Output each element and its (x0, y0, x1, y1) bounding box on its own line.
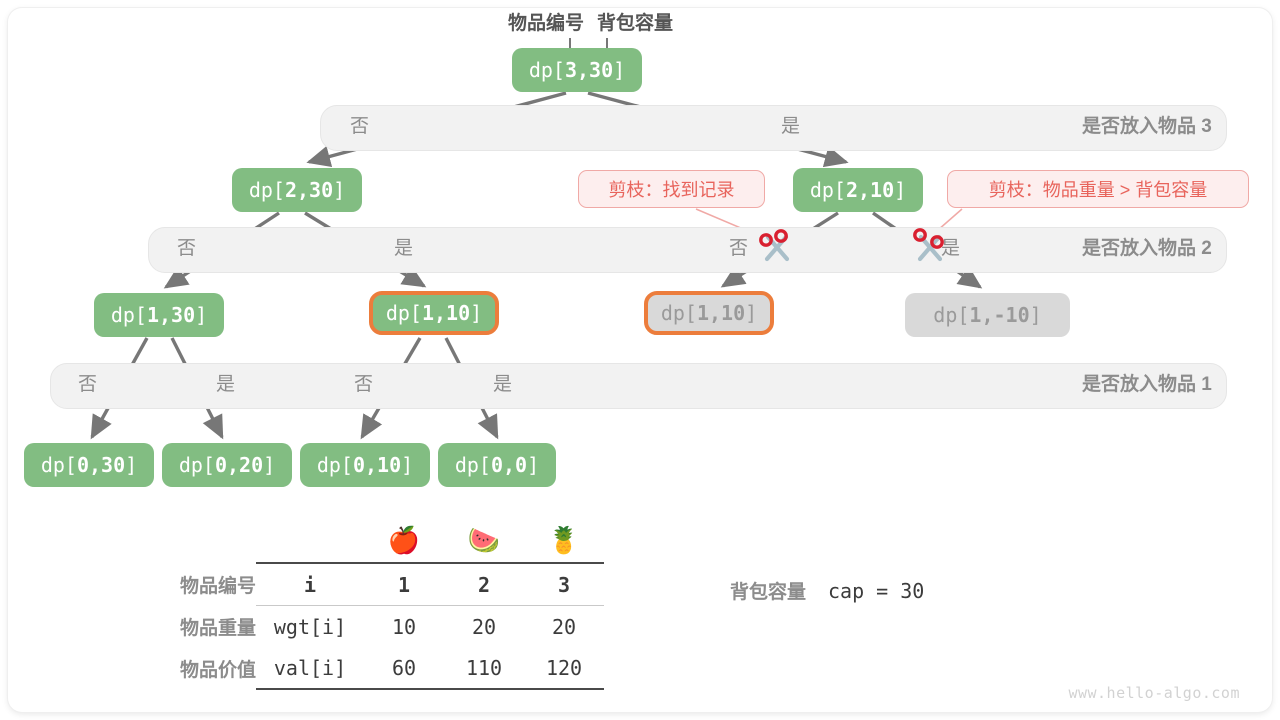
node-prefix: dp[ (386, 301, 422, 325)
node-prefix: dp[ (41, 453, 77, 477)
node-suffix: ] (263, 453, 275, 477)
cell-index-2: 2 (444, 563, 524, 606)
decision-title-item-3: 是否放入物品 3 (1082, 105, 1212, 149)
tree-node-dp-0-0[interactable]: dp[0,0] (438, 443, 556, 487)
cell-value-1: 60 (364, 647, 444, 689)
node-suffix: ] (125, 453, 137, 477)
node-prefix: dp[ (933, 303, 969, 327)
node-value: 1,-10 (969, 303, 1029, 327)
decision-choice-yes: 是 (394, 227, 413, 271)
tree-node-dp-0-10[interactable]: dp[0,10] (300, 443, 430, 487)
cell-value-3: 120 (524, 647, 604, 689)
table-row-item-value: 物品价值 val[i] 60 110 120 (180, 647, 604, 689)
tree-node-dp-1-30[interactable]: dp[1,30] (94, 293, 224, 337)
node-value: 1,10 (422, 301, 470, 325)
node-suffix: ] (894, 178, 906, 202)
decision-choice-yes: 是 (781, 105, 800, 149)
cell-weight-1: 10 (364, 606, 444, 648)
decision-choice-yes: 是 (216, 363, 235, 407)
node-prefix: dp[ (317, 453, 353, 477)
node-value: 0,10 (353, 453, 401, 477)
tree-node-dp-2-10[interactable]: dp[2,10] (793, 168, 923, 212)
top-label-item-index: 物品编号 (508, 8, 584, 35)
emoji-key-spacer (256, 520, 364, 563)
scissors-icon (910, 228, 950, 264)
decision-choice-no: 否 (350, 105, 369, 149)
table-emoji-header-row: 🍎 🍉 🍍 (180, 520, 604, 563)
node-suffix: ] (1030, 303, 1042, 327)
node-prefix: dp[ (111, 303, 147, 327)
node-value: 3,30 (565, 58, 613, 82)
node-value: 1,30 (147, 303, 195, 327)
tree-node-dp-1-10-memoized[interactable]: dp[1,10] (644, 291, 774, 335)
node-value: 0,0 (491, 453, 527, 477)
row-key-i: i (256, 563, 364, 606)
node-value: 0,20 (215, 453, 263, 477)
node-prefix: dp[ (455, 453, 491, 477)
tree-node-dp-3-30[interactable]: dp[3,30] (512, 48, 642, 92)
cell-weight-3: 20 (524, 606, 604, 648)
emoji-row-spacer (180, 520, 256, 563)
diagram-canvas: 物品编号 背包容量 否 是 是否放入物品 3 否 是 否 是 是否放入物品 2 … (0, 0, 1280, 720)
node-suffix: ] (195, 303, 207, 327)
tree-node-dp-1-minus10-invalid[interactable]: dp[1,-10] (905, 293, 1070, 337)
decision-bar-item-2 (148, 227, 1227, 273)
tree-node-dp-1-10-computed[interactable]: dp[1,10] (369, 291, 499, 335)
decision-choice-no: 否 (354, 363, 373, 407)
callout-pruning-overweight: 剪枝：物品重量 > 背包容量 (947, 170, 1249, 208)
node-value: 1,10 (697, 301, 745, 325)
node-suffix: ] (333, 178, 345, 202)
row-label-item-weight: 物品重量 (180, 606, 256, 648)
cell-index-3: 3 (524, 563, 604, 606)
tree-node-dp-0-30[interactable]: dp[0,30] (24, 443, 154, 487)
decision-choice-no: 否 (78, 363, 97, 407)
row-key-val: val[i] (256, 647, 364, 689)
cell-weight-2: 20 (444, 606, 524, 648)
fruit-icon-watermelon: 🍉 (444, 520, 524, 563)
scissors-icon (757, 228, 797, 264)
decision-title-item-2: 是否放入物品 2 (1082, 227, 1212, 271)
node-prefix: dp[ (179, 453, 215, 477)
capacity-note: 背包容量cap = 30 (730, 577, 924, 604)
cell-index-1: 1 (364, 563, 444, 606)
row-key-wgt: wgt[i] (256, 606, 364, 648)
watermark: www.hello-algo.com (1068, 684, 1240, 702)
table-row-item-weight: 物品重量 wgt[i] 10 20 20 (180, 606, 604, 648)
top-label-capacity: 背包容量 (597, 8, 673, 35)
table-row-item-index: 物品编号 i 1 2 3 (180, 563, 604, 606)
node-value: 0,30 (77, 453, 125, 477)
node-value: 2,30 (285, 178, 333, 202)
item-spec-table: 🍎 🍉 🍍 物品编号 i 1 2 3 物品重量 wgt[i] 10 20 20 … (180, 520, 604, 690)
node-suffix: ] (527, 453, 539, 477)
node-suffix: ] (401, 453, 413, 477)
node-prefix: dp[ (529, 58, 565, 82)
callout-pruning-memo: 剪枝：找到记录 (578, 170, 765, 208)
decision-choice-yes: 是 (493, 363, 512, 407)
row-label-item-index: 物品编号 (180, 563, 256, 606)
decision-title-item-1: 是否放入物品 1 (1082, 363, 1212, 407)
fruit-icon-apple: 🍎 (364, 520, 444, 563)
decision-choice-no: 否 (729, 227, 748, 271)
node-suffix: ] (613, 58, 625, 82)
cell-value-2: 110 (444, 647, 524, 689)
row-label-item-value: 物品价值 (180, 647, 256, 689)
node-value: 2,10 (846, 178, 894, 202)
node-prefix: dp[ (810, 178, 846, 202)
tree-node-dp-2-30[interactable]: dp[2,30] (232, 168, 362, 212)
tree-node-dp-0-20[interactable]: dp[0,20] (162, 443, 292, 487)
capacity-note-expression: cap = 30 (828, 579, 924, 603)
capacity-note-label: 背包容量 (730, 582, 806, 603)
decision-choice-no: 否 (177, 227, 196, 271)
node-suffix: ] (745, 301, 757, 325)
node-prefix: dp[ (661, 301, 697, 325)
node-prefix: dp[ (249, 178, 285, 202)
node-suffix: ] (470, 301, 482, 325)
fruit-icon-pineapple: 🍍 (524, 520, 604, 563)
